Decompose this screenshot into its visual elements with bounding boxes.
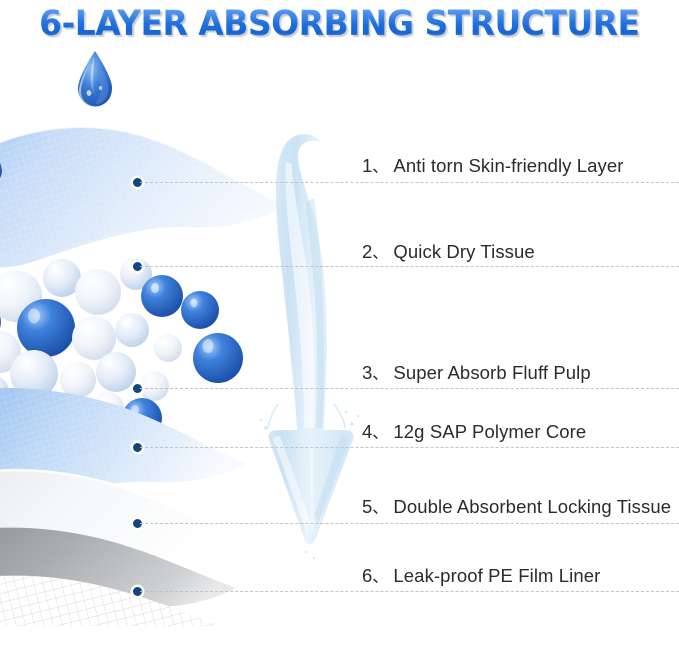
callout-label-4: 4、12g SAP Polymer Core: [362, 421, 586, 445]
callout-text-2: Quick Dry Tissue: [393, 241, 534, 262]
callout-text-6: Leak-proof PE Film Liner: [393, 565, 600, 586]
callout-line-3: [140, 388, 679, 389]
callout-number-1: 1: [362, 155, 372, 176]
callout-text-5: Double Absorbent Locking Tissue: [393, 496, 671, 517]
title-banner: 6-LAYER ABSORBING STRUCTURE: [0, 0, 679, 48]
callout-number-4: 4: [362, 421, 372, 442]
callout-label-6: 6、Leak-proof PE Film Liner: [362, 565, 600, 589]
callout-number-2: 2: [362, 241, 372, 262]
callout-text-4: 12g SAP Polymer Core: [393, 421, 586, 442]
callout-text-1: Anti torn Skin-friendly Layer: [393, 155, 623, 176]
callout-line-6: [140, 591, 679, 592]
callout-separator-2: 、: [372, 245, 393, 262]
callout-separator-6: 、: [372, 569, 393, 586]
callout-separator-1: 、: [372, 159, 393, 176]
callout-line-5: [140, 523, 679, 524]
callout-separator-4: 、: [372, 425, 393, 442]
callout-separator-5: 、: [372, 500, 393, 517]
callout-number-6: 6: [362, 565, 372, 586]
callout-line-1: [140, 182, 679, 183]
callout-label-3: 3、Super Absorb Fluff Pulp: [362, 362, 591, 386]
infographic-root: 6-LAYER ABSORBING STRUCTURE: [0, 0, 679, 661]
water-arrow-splash: [248, 128, 373, 578]
page-title: 6-LAYER ABSORBING STRUCTURE: [39, 5, 639, 43]
callout-number-5: 5: [362, 496, 372, 517]
callout-label-2: 2、Quick Dry Tissue: [362, 241, 535, 265]
callout-label-1: 1、Anti torn Skin-friendly Layer: [362, 155, 624, 179]
callout-line-4: [140, 447, 679, 448]
callout-text-3: Super Absorb Fluff Pulp: [393, 362, 590, 383]
callout-line-2: [140, 266, 679, 267]
callout-separator-3: 、: [372, 366, 393, 383]
layer-top-sheet: [0, 127, 286, 268]
callout-label-5: 5、Double Absorbent Locking Tissue: [362, 496, 671, 520]
callout-number-3: 3: [362, 362, 372, 383]
